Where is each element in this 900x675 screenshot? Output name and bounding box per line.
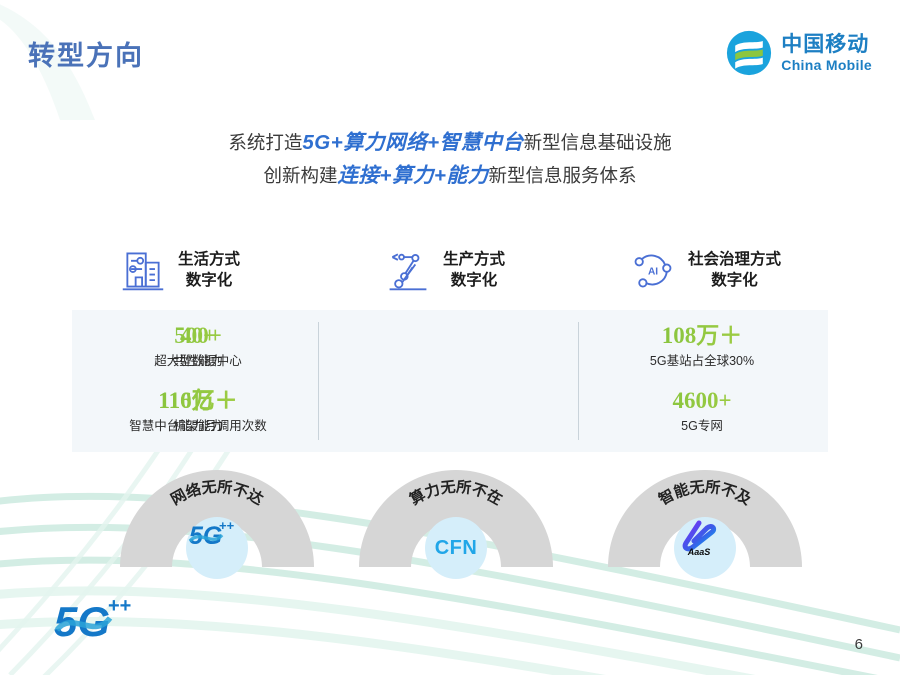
stat-item: 108万＋ 5G基站占全球30% [576,310,828,371]
svg-text:++: ++ [219,518,235,533]
stats-divider-2 [578,322,579,440]
headline-line-1: 系统打造5G+算力网络+智慧中台新型信息基础设施 [0,128,900,158]
building-digital-icon [120,246,166,294]
arch-intelligence: 智能无所不及 AaaS [590,455,820,580]
stats-column-capability: 500+ 共性能力 110亿＋ 智慧中台能力月调用次数 [72,310,324,452]
china-mobile-emblem-icon [726,30,772,76]
category-label-governance: 社会治理方式 数字化 [688,249,781,291]
category-label-line1: 生活方式 [178,251,240,268]
headline-line1-post: 新型信息基础设施 [524,132,672,153]
arch-computing: 算力无所不在 CFN [341,455,571,580]
arch-network: 网络无所不达 5G ++ [102,455,332,580]
stat-description: 5G基站占全球30% [576,351,828,371]
ai-network-icon: AI [630,246,676,294]
badge-cfn-label: CFN [435,537,478,560]
stats-panel: 108万＋ 5G基站占全球30% 4600+ 5G专网 40+ 超大型数据中心 … [72,310,828,452]
stat-description: 共性能力 [72,351,324,371]
category-label-line2: 数字化 [443,270,505,291]
category-label-line2: 数字化 [688,270,781,291]
stat-value: 500+ [72,322,324,350]
stat-value: 4600+ [576,387,828,415]
stats-column-network: 108万＋ 5G基站占全球30% 4600+ 5G专网 [576,310,828,452]
stat-item: 4600+ 5G专网 [576,371,828,436]
headline-line1-accent: 5G+算力网络+智慧中台 [302,131,523,154]
5g-plus-plus-logo-icon: 5G ++ [186,517,238,553]
arch-row: 网络无所不达 5G ++ 算力无所不在 CFN [0,455,900,580]
svg-text:AI: AI [648,267,658,278]
svg-text:5G: 5G [54,598,110,645]
badge-cfn: CFN [425,517,487,579]
category-item-production: 生产方式 数字化 [385,238,505,302]
category-label-line1: 社会治理方式 [688,251,781,268]
logo-text-en: China Mobile [781,58,872,72]
footer-5g-plus-plus-logo: 5G ++ [52,592,150,648]
headline-line2-post: 新型信息服务体系 [488,165,636,186]
category-item-governance: AI 社会治理方式 数字化 [630,238,781,302]
stat-item: 500+ 共性能力 [72,310,324,371]
category-item-lifestyle: 生活方式 数字化 [120,238,240,302]
logo-text-cn: 中国移动 [781,34,872,55]
badge-5g-plus-plus: 5G ++ [186,517,248,579]
stat-value: 108万＋ [576,322,828,350]
headline-line2-pre: 创新构建 [264,165,338,186]
aaas-logo-icon: AaaS [674,517,724,557]
headline-line1-pre: 系统打造 [228,132,302,153]
stat-description: 智慧中台能力月调用次数 [72,416,324,436]
page-number: 6 [855,636,863,653]
category-label-lifestyle: 生活方式 数字化 [178,249,240,291]
category-label-line1: 生产方式 [443,251,505,268]
svg-text:AaaS: AaaS [687,547,711,557]
page-title: 转型方向 [28,34,144,73]
badge-aaas: AaaS [674,517,736,579]
category-label-line2: 数字化 [178,270,240,291]
headline-line2-accent: 连接+算力+能力 [338,164,489,187]
category-row: 生活方式 数字化 生产方式 数字化 [0,238,900,302]
stat-description: 5G专网 [576,416,828,436]
svg-text:++: ++ [108,595,131,617]
stats-divider-1 [318,322,319,440]
robot-arm-icon [385,246,431,294]
headline-line-2: 创新构建连接+算力+能力新型信息服务体系 [0,161,900,191]
stat-item: 110亿＋ 智慧中台能力月调用次数 [72,371,324,436]
headline: 系统打造5G+算力网络+智慧中台新型信息基础设施 创新构建连接+算力+能力新型信… [0,128,900,191]
stat-value: 110亿＋ [72,387,324,415]
category-label-production: 生产方式 数字化 [443,249,505,291]
china-mobile-logo: 中国移动 China Mobile [726,30,872,76]
